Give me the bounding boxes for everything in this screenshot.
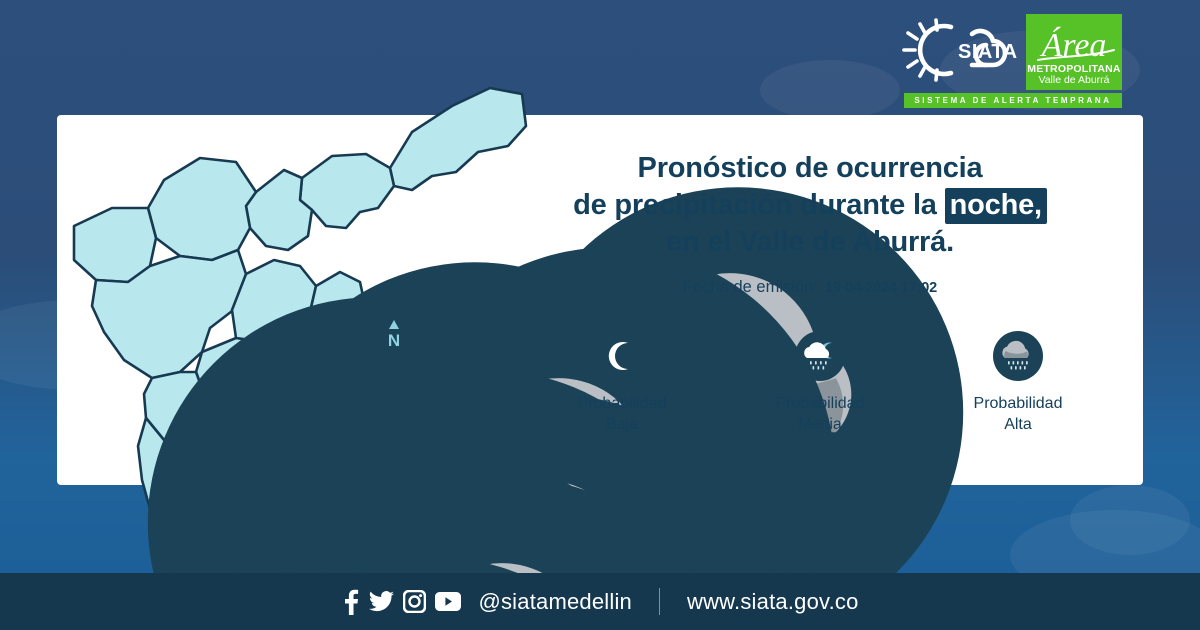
area-line2: Valle de Aburrá — [1038, 75, 1109, 86]
green-banner-text: SISTEMA DE ALERTA TEMPRANA — [914, 96, 1111, 105]
legend-item-media: Probabilidad Media — [745, 330, 895, 435]
legend-label-line2: Baja — [578, 414, 667, 435]
youtube-icon[interactable] — [435, 592, 461, 611]
page-title: Pronóstico de ocurrencia de precipitació… — [500, 150, 1120, 261]
map-marker[interactable] — [138, 265, 186, 313]
valle-de-aburra-map: N — [60, 60, 530, 575]
social-icons — [341, 589, 461, 615]
issue-date-row: Fecha de emisión: 19-04-2024 17:02 — [500, 278, 1120, 297]
footer-bar: @siatamedellin www.siata.gov.co — [0, 573, 1200, 630]
instagram-icon[interactable] — [403, 590, 426, 613]
cloud-rain-heavy-icon — [992, 330, 1044, 382]
probability-legend: Probabilidad Baja — [500, 330, 1120, 435]
title-line-2: de precipitación durante la noche, — [500, 187, 1120, 224]
map-marker[interactable] — [178, 450, 226, 498]
compass-north-icon: N — [370, 310, 418, 358]
twitter-icon[interactable] — [369, 591, 394, 613]
facebook-icon[interactable] — [341, 589, 360, 615]
map-marker[interactable] — [163, 345, 211, 393]
footer-divider — [659, 588, 660, 615]
title-line-3: en el Valle de Aburrá. — [500, 224, 1120, 261]
compass-label: N — [388, 331, 400, 350]
legend-label-media: Probabilidad Media — [776, 393, 865, 435]
title-line-2-text: de precipitación durante la — [573, 189, 937, 221]
svg-text:SIATA: SIATA — [958, 41, 1018, 63]
map-marker[interactable] — [200, 525, 248, 573]
forecast-panel: Pronóstico de ocurrencia de precipitació… — [500, 150, 1120, 435]
legend-item-alta: Probabilidad Alta — [943, 330, 1093, 435]
green-banner: SISTEMA DE ALERTA TEMPRANA — [904, 93, 1122, 108]
legend-label-line2: Media — [776, 414, 865, 435]
legend-label-line1: Probabilidad — [776, 393, 865, 414]
map-marker[interactable] — [253, 338, 301, 386]
cloud-rain-moon-icon — [794, 330, 846, 382]
map-marker[interactable] — [317, 362, 365, 410]
title-line-1: Pronóstico de ocurrencia — [500, 150, 1120, 187]
legend-label-line1: Probabilidad — [974, 393, 1063, 414]
website-url[interactable]: www.siata.gov.co — [687, 589, 859, 615]
legend-label-line2: Alta — [974, 414, 1063, 435]
issue-date-label: Fecha de emisión: — [683, 278, 818, 297]
legend-label-alta: Probabilidad Alta — [974, 393, 1063, 435]
legend-label-baja: Probabilidad Baja — [578, 393, 667, 435]
legend-item-baja: Probabilidad Baja — [547, 330, 697, 435]
social-handle[interactable]: @siatamedellin — [478, 589, 632, 615]
map-marker[interactable] — [227, 455, 275, 503]
logo-bar: SIATA Área METROPOLITANA Valle de Aburrá — [898, 14, 1122, 90]
legend-label-line1: Probabilidad — [578, 393, 667, 414]
title-highlight: noche, — [945, 188, 1047, 224]
siata-logo: SIATA — [898, 14, 1020, 86]
moon-icon — [596, 330, 648, 382]
area-script-text: Área — [1026, 16, 1122, 68]
issue-date-value: 19-04-2024 17:02 — [825, 280, 937, 296]
area-metropolitana-logo: Área METROPOLITANA Valle de Aburrá — [1026, 14, 1122, 90]
map-marker[interactable] — [275, 445, 323, 493]
